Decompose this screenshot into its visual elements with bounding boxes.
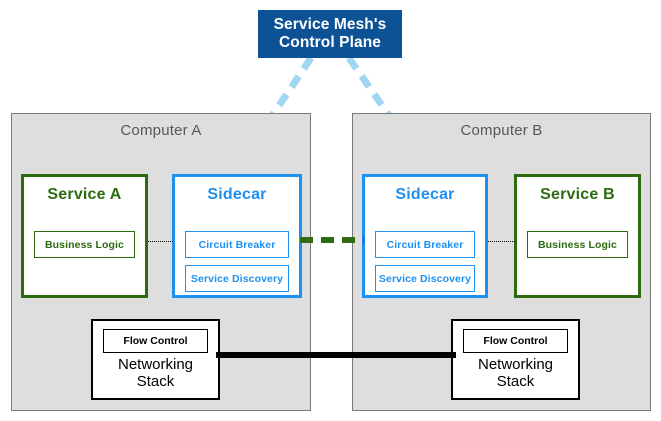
control-plane-title-line1: Service Mesh's — [274, 16, 387, 34]
computer-b-title: Computer B — [353, 122, 650, 139]
service-a-to-sidecar-a-connector — [148, 241, 173, 242]
sidecar-a-service-discovery[interactable]: Service Discovery — [185, 265, 289, 292]
control-plane-title-line2: Control Plane — [279, 34, 381, 52]
sidecar-a-circuit-breaker[interactable]: Circuit Breaker — [185, 231, 289, 258]
networking-stack-a-box[interactable]: Flow Control Networking Stack — [91, 319, 220, 400]
sidecar-b-circuit-breaker[interactable]: Circuit Breaker — [375, 231, 475, 258]
networking-stack-a-label-line1: Networking — [93, 356, 218, 373]
sidecar-to-sidecar-connector — [300, 237, 364, 243]
service-a-box[interactable]: Service A Business Logic — [21, 174, 148, 298]
service-a-business-logic[interactable]: Business Logic — [34, 231, 135, 258]
diagram-canvas: Service Mesh's Control Plane Computer A … — [0, 0, 661, 421]
sidecar-a-box[interactable]: Sidecar Circuit Breaker Service Discover… — [172, 174, 302, 298]
networking-stack-a-label-line2: Stack — [93, 373, 218, 390]
networking-stack-b-label-line1: Networking — [453, 356, 578, 373]
networking-stack-to-networking-stack-connector — [216, 352, 456, 358]
service-b-box[interactable]: Service B Business Logic — [514, 174, 641, 298]
networking-stack-b-label-line2: Stack — [453, 373, 578, 390]
sidecar-b-service-discovery[interactable]: Service Discovery — [375, 265, 475, 292]
control-plane-box[interactable]: Service Mesh's Control Plane — [258, 10, 402, 58]
sidecar-b-title: Sidecar — [365, 186, 485, 204]
flow-control-b[interactable]: Flow Control — [463, 329, 568, 353]
networking-stack-b-box[interactable]: Flow Control Networking Stack — [451, 319, 580, 400]
computer-a-title: Computer A — [12, 122, 310, 139]
flow-control-a[interactable]: Flow Control — [103, 329, 208, 353]
networking-stack-b-label: Networking Stack — [453, 356, 578, 391]
sidecar-a-title: Sidecar — [175, 186, 299, 204]
service-b-title: Service B — [517, 186, 638, 204]
networking-stack-a-label: Networking Stack — [93, 356, 218, 391]
service-b-business-logic[interactable]: Business Logic — [527, 231, 628, 258]
sidecar-b-box[interactable]: Sidecar Circuit Breaker Service Discover… — [362, 174, 488, 298]
sidecar-b-to-service-b-connector — [488, 241, 515, 242]
service-a-title: Service A — [24, 186, 145, 204]
